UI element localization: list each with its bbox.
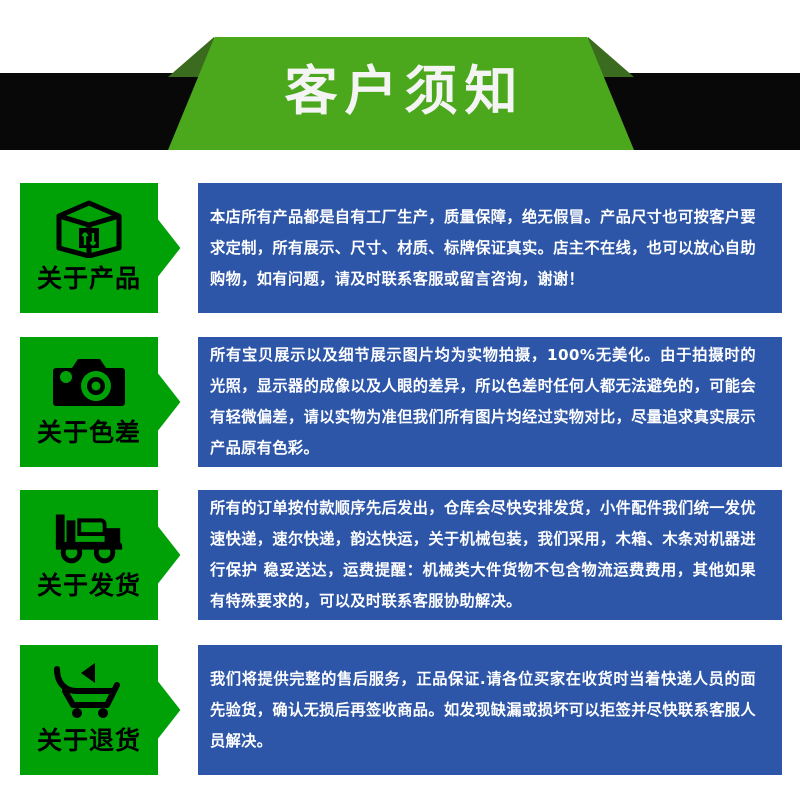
- panel-text-color: 所有宝贝展示以及细节展示图片均为实物拍摄，100%无美化。由于拍摄时的光照，显示…: [210, 340, 756, 464]
- icon-box-shipping: 关于发货: [20, 490, 158, 620]
- chevron-arrow-product: [158, 183, 198, 313]
- text-panel-color: 所有宝贝展示以及细节展示图片均为实物拍摄，100%无美化。由于拍摄时的光照，显示…: [172, 337, 782, 467]
- section-row-shipping: 关于发货 所有的订单按付款顺序先后发出，仓库会尽快安排发货，小件配件我们统一发优…: [0, 490, 800, 620]
- camera-icon: [50, 351, 128, 413]
- panel-text-product: 本店所有产品都是自有工厂生产，质量保障，绝无假冒。产品尺寸也可按客户要求定制，所…: [210, 202, 756, 295]
- text-panel-returns: 我们将提供完整的售后服务，正品保证.请各位买家在收货时当着快递人员的面先验货，确…: [172, 645, 782, 775]
- return-cart-icon: [50, 659, 128, 721]
- panel-text-returns: 我们将提供完整的售后服务，正品保证.请各位买家在收货时当着快递人员的面先验货，确…: [210, 664, 756, 757]
- text-panel-product: 本店所有产品都是自有工厂生产，质量保障，绝无假冒。产品尺寸也可按客户要求定制，所…: [172, 183, 782, 313]
- header-banner: 客户须知: [0, 0, 800, 170]
- section-row-color: 关于色差 所有宝贝展示以及细节展示图片均为实物拍摄，100%无美化。由于拍摄时的…: [0, 337, 800, 467]
- panel-text-shipping: 所有的订单按付款顺序先后发出，仓库会尽快安排发货，小件配件我们统一发优速快递，速…: [210, 493, 756, 617]
- icon-label-product: 关于产品: [37, 265, 141, 293]
- chevron-arrow-returns: [158, 645, 198, 775]
- package-box-icon: [50, 197, 128, 259]
- page-title: 客户须知: [278, 65, 525, 122]
- section-row-product: 关于产品 本店所有产品都是自有工厂生产，质量保障，绝无假冒。产品尺寸也可按客户要…: [0, 183, 800, 313]
- forklift-truck-icon: [50, 504, 128, 566]
- banner-ribbon: 客户须知: [168, 37, 634, 150]
- icon-label-shipping: 关于发货: [37, 572, 141, 600]
- icon-box-product: 关于产品: [20, 183, 158, 313]
- icon-label-color: 关于色差: [37, 419, 141, 447]
- section-row-returns: 关于退货 我们将提供完整的售后服务，正品保证.请各位买家在收货时当着快递人员的面…: [0, 645, 800, 775]
- chevron-arrow-color: [158, 337, 198, 467]
- chevron-arrow-shipping: [158, 490, 198, 620]
- icon-box-returns: 关于退货: [20, 645, 158, 775]
- icon-label-returns: 关于退货: [37, 727, 141, 755]
- customer-notice-page: 客户须知 关于产品: [0, 0, 800, 800]
- icon-box-color: 关于色差: [20, 337, 158, 467]
- text-panel-shipping: 所有的订单按付款顺序先后发出，仓库会尽快安排发货，小件配件我们统一发优速快递，速…: [172, 490, 782, 620]
